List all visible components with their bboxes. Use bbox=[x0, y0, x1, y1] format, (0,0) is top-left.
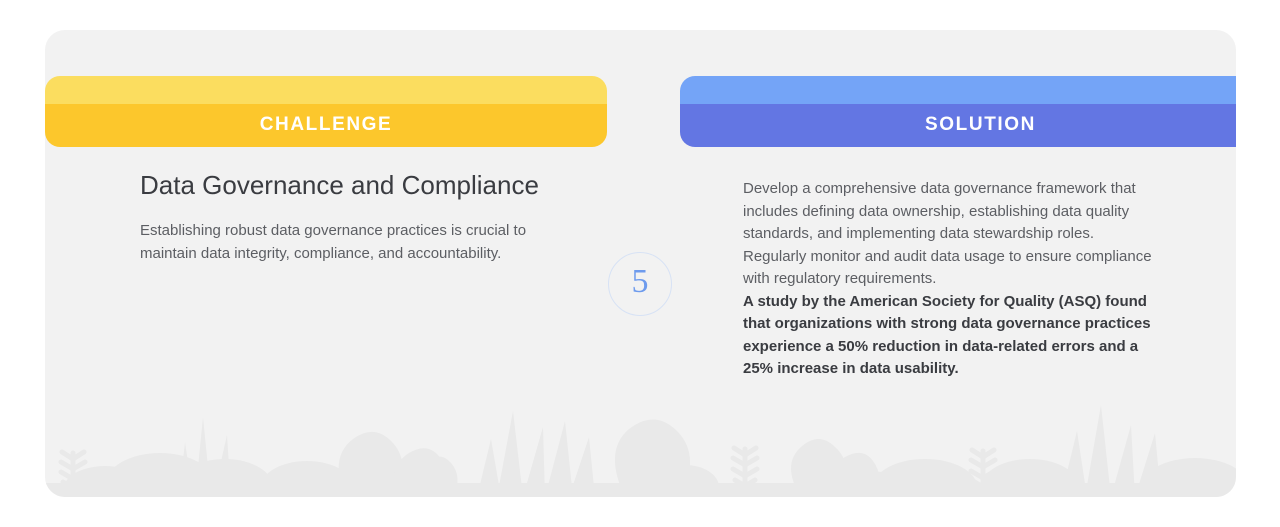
step-number-badge: 5 bbox=[608, 252, 672, 316]
challenge-ribbon-label: CHALLENGE bbox=[260, 115, 393, 134]
challenge-body-text: Establishing robust data governance prac… bbox=[140, 219, 560, 266]
solution-ribbon: SOLUTION bbox=[680, 76, 1236, 147]
foliage-silhouette-icon bbox=[45, 387, 1236, 497]
slide-card: CHALLENGE SOLUTION Data Governance and C… bbox=[45, 30, 1236, 497]
challenge-ribbon-top-face bbox=[45, 76, 607, 105]
solution-ribbon-front-face: SOLUTION bbox=[680, 104, 1236, 147]
solution-ribbon-label: SOLUTION bbox=[925, 115, 1036, 134]
solution-highlight-text: A study by the American Society for Qual… bbox=[743, 291, 1158, 381]
challenge-ribbon: CHALLENGE bbox=[45, 76, 607, 147]
challenge-column: Data Governance and Compliance Establish… bbox=[140, 170, 560, 266]
solution-body-text: Develop a comprehensive data governance … bbox=[743, 178, 1158, 291]
solution-ribbon-top-face bbox=[680, 76, 1236, 105]
step-number-label: 5 bbox=[632, 265, 649, 299]
challenge-ribbon-front-face: CHALLENGE bbox=[45, 104, 607, 147]
challenge-title: Data Governance and Compliance bbox=[140, 170, 560, 201]
solution-column: Develop a comprehensive data governance … bbox=[743, 178, 1158, 381]
